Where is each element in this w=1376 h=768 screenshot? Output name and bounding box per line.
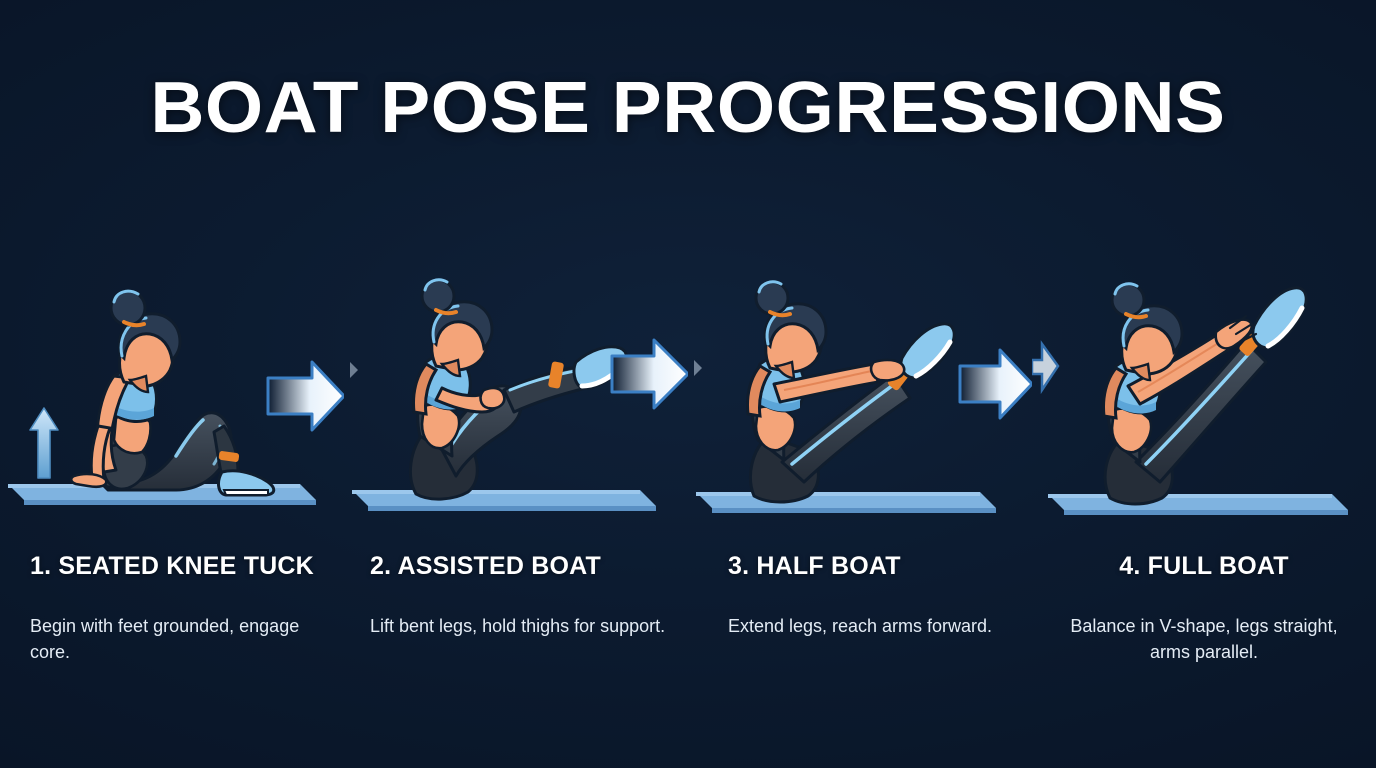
step-description-3: Extend legs, reach arms forward. (706, 613, 1014, 639)
step-description-4: Balance in V-shape, legs straight, arms … (1050, 613, 1358, 665)
shoe-icon (1253, 288, 1306, 348)
yoga-mat-icon (352, 490, 656, 511)
step-card-3: 3. HALF BOAT Extend legs, reach arms for… (688, 552, 1032, 665)
transition-arrow-in-icon (1032, 344, 1058, 390)
step-title-1: 1. SEATED KNEE TUCK (18, 552, 326, 581)
yoga-mat-icon (1048, 494, 1348, 515)
step-description-2: Lift bent legs, hold thighs for support. (362, 613, 670, 639)
pose-illustration-assisted-boat (344, 250, 688, 550)
hand (481, 388, 505, 408)
step-title-2: 2. ASSISTED BOAT (362, 552, 670, 581)
transition-arrow-icon (268, 362, 344, 430)
hand (871, 360, 904, 380)
yoga-mat-icon (696, 492, 996, 513)
illustration-row (0, 250, 1376, 550)
figure-head (111, 291, 180, 392)
page-title: BOAT POSE PROGRESSIONS (150, 72, 1225, 144)
step-card-4: 4. FULL BOAT Balance in V-shape, legs st… (1032, 552, 1376, 665)
step-title-4: 4. FULL BOAT (1050, 552, 1358, 581)
infographic-poster: BOAT POSE PROGRESSIONS (0, 0, 1376, 768)
shoe-icon (901, 324, 954, 378)
pose-illustration-half-boat (688, 250, 1032, 550)
step-card-1: 1. SEATED KNEE TUCK Begin with feet grou… (0, 552, 344, 665)
transition-arrow-in-icon (344, 362, 358, 378)
step-title-3: 3. HALF BOAT (706, 552, 1014, 581)
shoe-icon (219, 471, 274, 495)
up-arrow-icon (30, 408, 58, 478)
title-container: BOAT POSE PROGRESSIONS (0, 72, 1376, 144)
caption-row: 1. SEATED KNEE TUCK Begin with feet grou… (0, 552, 1376, 665)
hand (71, 474, 106, 487)
transition-arrow-in-icon (688, 360, 702, 376)
pose-illustration-seated-knee-tuck (0, 250, 344, 550)
step-card-2: 2. ASSISTED BOAT Lift bent legs, hold th… (344, 552, 688, 665)
transition-arrow-icon (960, 350, 1032, 418)
step-description-1: Begin with feet grounded, engage core. (18, 613, 326, 665)
pose-illustration-full-boat (1032, 250, 1376, 550)
